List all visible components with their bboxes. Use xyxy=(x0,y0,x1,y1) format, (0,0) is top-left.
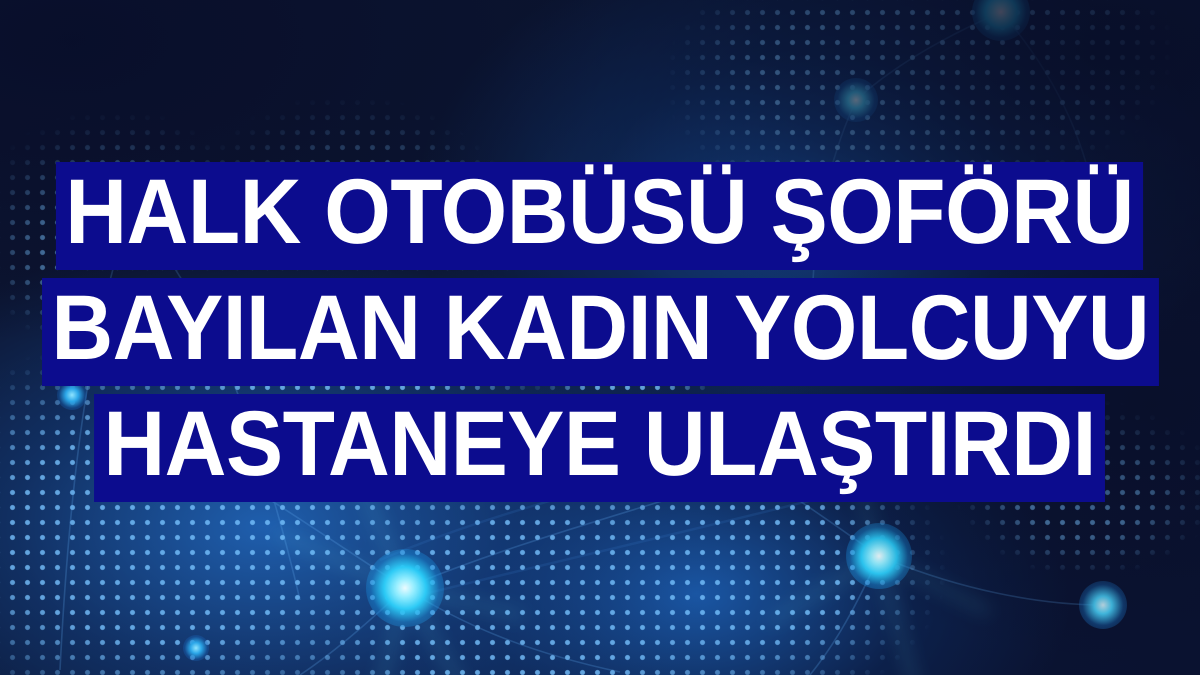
headline-line-1: HALK OTOBÜSÜ ŞOFÖRÜ xyxy=(56,162,1143,270)
headline-line-2: BAYILAN KADIN YOLCUYU xyxy=(42,278,1158,386)
news-thumbnail-card: HALK OTOBÜSÜ ŞOFÖRÜ BAYILAN KADIN YOLCUY… xyxy=(0,0,1200,675)
headline-line-3: HASTANEYE ULAŞTIRDI xyxy=(94,394,1105,502)
headline: HALK OTOBÜSÜ ŞOFÖRÜ BAYILAN KADIN YOLCUY… xyxy=(0,162,1200,502)
